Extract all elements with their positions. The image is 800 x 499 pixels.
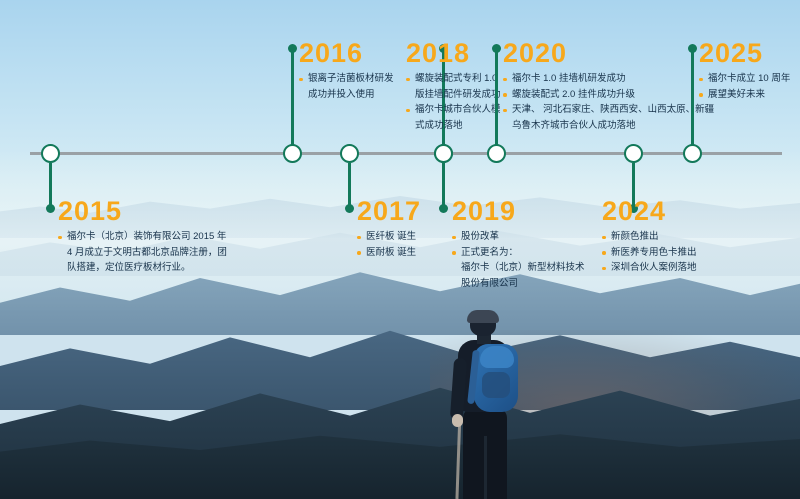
timeline-entry-2016: 2016 银离子洁菌板材研发 成功并投入使用 bbox=[299, 38, 394, 103]
list-item: 福尔卡（北京）新型材料技术 bbox=[452, 261, 585, 276]
timeline-bullets-2024: 新颜色推出 新医养专用色卡推出 深圳合伙人案例落地 bbox=[602, 230, 697, 276]
timeline-stem-2019 bbox=[442, 163, 445, 208]
list-item: 福尔卡 1.0 挂墙机研发成功 bbox=[503, 72, 714, 87]
backpack-lid bbox=[480, 346, 514, 368]
timeline-stem-2016 bbox=[291, 48, 294, 145]
list-item: 福尔卡（北京）装饰有限公司 2015 年 bbox=[58, 230, 227, 245]
timeline-entry-2020: 2020 福尔卡 1.0 挂墙机研发成功 螺旋装配式 2.0 挂件成功升级 天津… bbox=[503, 38, 714, 134]
list-item: 新医养专用色卡推出 bbox=[602, 246, 697, 261]
timeline-year-2018: 2018 bbox=[406, 38, 501, 68]
timeline-entry-2019: 2019 股份改革 正式更名为： 福尔卡（北京）新型材料技术 股份有限公司 bbox=[452, 196, 585, 292]
timeline-bullets-2018: 螺旋装配式专利 1.0 版挂墙配件研发成功 福尔卡城市合伙人模 式成功落地 bbox=[406, 72, 501, 133]
list-item: 银离子洁菌板材研发 bbox=[299, 72, 394, 87]
list-item: 股份有限公司 bbox=[452, 277, 585, 292]
timeline-node-2025[interactable] bbox=[683, 144, 702, 163]
timeline-stem-cap-2017 bbox=[345, 204, 354, 213]
timeline-entry-2015: 2015 福尔卡（北京）装饰有限公司 2015 年 4 月成立于文明古都北京品牌… bbox=[58, 196, 227, 277]
hiker-hand bbox=[452, 414, 463, 427]
list-item: 成功并投入使用 bbox=[299, 88, 394, 103]
list-item: 展望美好未来 bbox=[699, 88, 790, 103]
timeline-bullets-2015: 福尔卡（北京）装饰有限公司 2015 年 4 月成立于文明古都北京品牌注册，团 … bbox=[58, 230, 227, 276]
list-item: 队搭建，定位医疗板材行业。 bbox=[58, 261, 227, 276]
timeline-node-2016[interactable] bbox=[283, 144, 302, 163]
timeline-node-2017[interactable] bbox=[340, 144, 359, 163]
list-item: 福尔卡城市合伙人模 bbox=[406, 103, 501, 118]
list-item: 版挂墙配件研发成功 bbox=[406, 88, 501, 103]
timeline-year-2024: 2024 bbox=[602, 196, 697, 226]
timeline-entry-2017: 2017 医纤板 诞生 医耐板 诞生 bbox=[357, 196, 421, 261]
timeline-bullets-2016: 银离子洁菌板材研发 成功并投入使用 bbox=[299, 72, 394, 102]
timeline-node-2015[interactable] bbox=[41, 144, 60, 163]
list-item: 4 月成立于文明古都北京品牌注册，团 bbox=[58, 246, 227, 261]
timeline-year-2016: 2016 bbox=[299, 38, 394, 68]
timeline-year-2025: 2025 bbox=[699, 38, 790, 68]
list-item: 股份改革 bbox=[452, 230, 585, 245]
timeline-year-2015: 2015 bbox=[58, 196, 227, 226]
hiker-figure bbox=[430, 310, 550, 499]
timeline-stem-cap-2019 bbox=[439, 204, 448, 213]
timeline-stem-2020 bbox=[495, 48, 498, 145]
timeline-entry-2024: 2024 新颜色推出 新医养专用色卡推出 深圳合伙人案例落地 bbox=[602, 196, 697, 277]
timeline-year-2019: 2019 bbox=[452, 196, 585, 226]
list-item: 螺旋装配式 2.0 挂件成功升级 bbox=[503, 88, 714, 103]
timeline-node-2020[interactable] bbox=[487, 144, 506, 163]
timeline-stem-cap-2016 bbox=[288, 44, 297, 53]
timeline-bullets-2017: 医纤板 诞生 医耐板 诞生 bbox=[357, 230, 421, 260]
timeline-node-2024[interactable] bbox=[624, 144, 643, 163]
timeline-stem-cap-2015 bbox=[46, 204, 55, 213]
list-item: 深圳合伙人案例落地 bbox=[602, 261, 697, 276]
list-item: 天津、 河北石家庄、陕西西安、山西太原、新疆 bbox=[503, 103, 714, 118]
list-item: 螺旋装配式专利 1.0 bbox=[406, 72, 501, 87]
backpack-front-panel bbox=[482, 372, 510, 398]
hiker-leg-gap bbox=[484, 436, 487, 499]
timeline-bullets-2019: 股份改革 正式更名为： 福尔卡（北京）新型材料技术 股份有限公司 bbox=[452, 230, 585, 291]
timeline-stem-cap-2020 bbox=[492, 44, 501, 53]
hiker-hat bbox=[467, 310, 499, 323]
timeline-year-2017: 2017 bbox=[357, 196, 421, 226]
list-item: 乌鲁木齐城市合伙人成功落地 bbox=[503, 119, 714, 134]
timeline-bullets-2025: 福尔卡成立 10 周年 展望美好未来 bbox=[699, 72, 790, 102]
list-item: 新颜色推出 bbox=[602, 230, 697, 245]
timeline-stem-cap-2025 bbox=[688, 44, 697, 53]
timeline-stem-2025 bbox=[691, 48, 694, 145]
list-item: 医纤板 诞生 bbox=[357, 230, 421, 245]
timeline-bullets-2020: 福尔卡 1.0 挂墙机研发成功 螺旋装配式 2.0 挂件成功升级 天津、 河北石… bbox=[503, 72, 714, 133]
timeline-infographic: 2015 福尔卡（北京）装饰有限公司 2015 年 4 月成立于文明古都北京品牌… bbox=[0, 0, 800, 499]
timeline-entry-2018: 2018 螺旋装配式专利 1.0 版挂墙配件研发成功 福尔卡城市合伙人模 式成功… bbox=[406, 38, 501, 134]
timeline-node-2019[interactable] bbox=[434, 144, 453, 163]
timeline-stem-2015 bbox=[49, 163, 52, 208]
list-item: 医耐板 诞生 bbox=[357, 246, 421, 261]
list-item: 正式更名为： bbox=[452, 246, 585, 261]
list-item: 式成功落地 bbox=[406, 119, 501, 134]
timeline-year-2020: 2020 bbox=[503, 38, 714, 68]
timeline-axis bbox=[30, 152, 782, 155]
timeline-stem-2017 bbox=[348, 163, 351, 208]
timeline-entry-2025: 2025 福尔卡成立 10 周年 展望美好未来 bbox=[699, 38, 790, 103]
list-item: 福尔卡成立 10 周年 bbox=[699, 72, 790, 87]
